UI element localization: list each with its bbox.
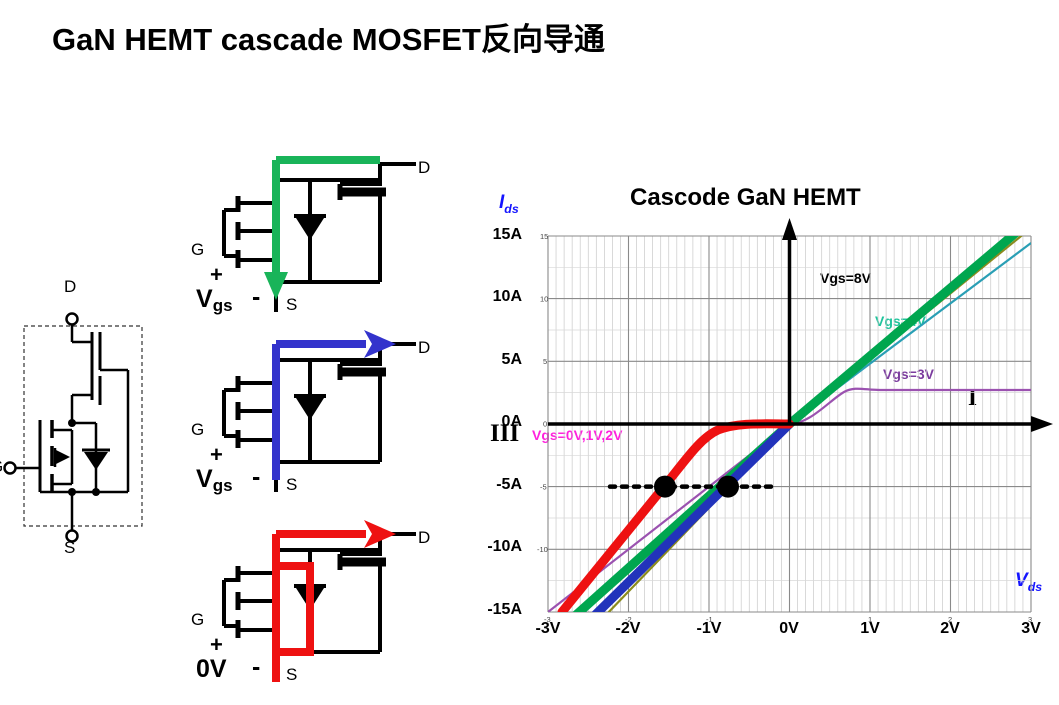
c3-vgs-label: 0V [196,655,227,684]
svg-text:-2: -2 [625,615,632,624]
operating-point-diode [654,476,676,498]
c3-drain-label: D [418,528,430,548]
svg-text:10: 10 [540,295,548,304]
svg-text:-10: -10 [537,545,548,554]
axis-arrows [548,218,1053,432]
c1-source-label: S [286,295,297,315]
svg-text:-3: -3 [544,615,551,624]
svg-text:15: 15 [540,232,548,241]
circuit-forward-conduction: G D S + Vgs - [180,140,450,320]
cascode-gan-hemt-symbol: D S G [0,280,190,560]
operating-point-channel [717,476,739,498]
cascode-output-characteristics-chart: Cascode GaN HEMT Ids Vds 15A 10A 5A 0A -… [470,170,1059,650]
plot-area: 15 10 5 0 -5 -10 -3 -2 -1 1 2 3 [470,170,1059,650]
c1-vgs-label: Vgs [196,285,233,316]
svg-text:-5: -5 [540,483,547,492]
circuit-body-diode: G D S + 0V - [180,510,450,700]
gate-terminal-node [5,463,16,474]
drain-terminal-node [67,314,78,325]
c2-gate-label: G [191,420,204,440]
symbol-source-label: S [64,538,75,558]
svg-text:0: 0 [543,420,547,429]
c2-vgs-label: Vgs [196,465,233,496]
c3-gate-label: G [191,610,204,630]
circuit-reverse-channel: G D S + Vgs - [180,320,450,500]
package-outline [24,326,142,526]
c1-minus-label: - [252,283,260,312]
svg-text:-1: -1 [706,615,713,624]
svg-text:1: 1 [868,615,872,624]
svg-text:5: 5 [543,357,547,366]
c2-minus-label: - [252,463,260,492]
symbol-drain-label: D [64,277,76,297]
c3-source-label: S [286,665,297,685]
slide-root: GaN HEMT cascade MOSFET反向导通 [0,0,1059,703]
svg-text:3: 3 [1028,615,1032,624]
page-title: GaN HEMT cascade MOSFET反向导通 [52,14,605,59]
svg-text:2: 2 [948,615,952,624]
c2-drain-label: D [418,338,430,358]
symbol-gate-label: G [0,457,3,477]
c3-minus-label: - [252,653,260,682]
c1-drain-label: D [418,158,430,178]
c1-gate-label: G [191,240,204,260]
c2-source-label: S [286,475,297,495]
